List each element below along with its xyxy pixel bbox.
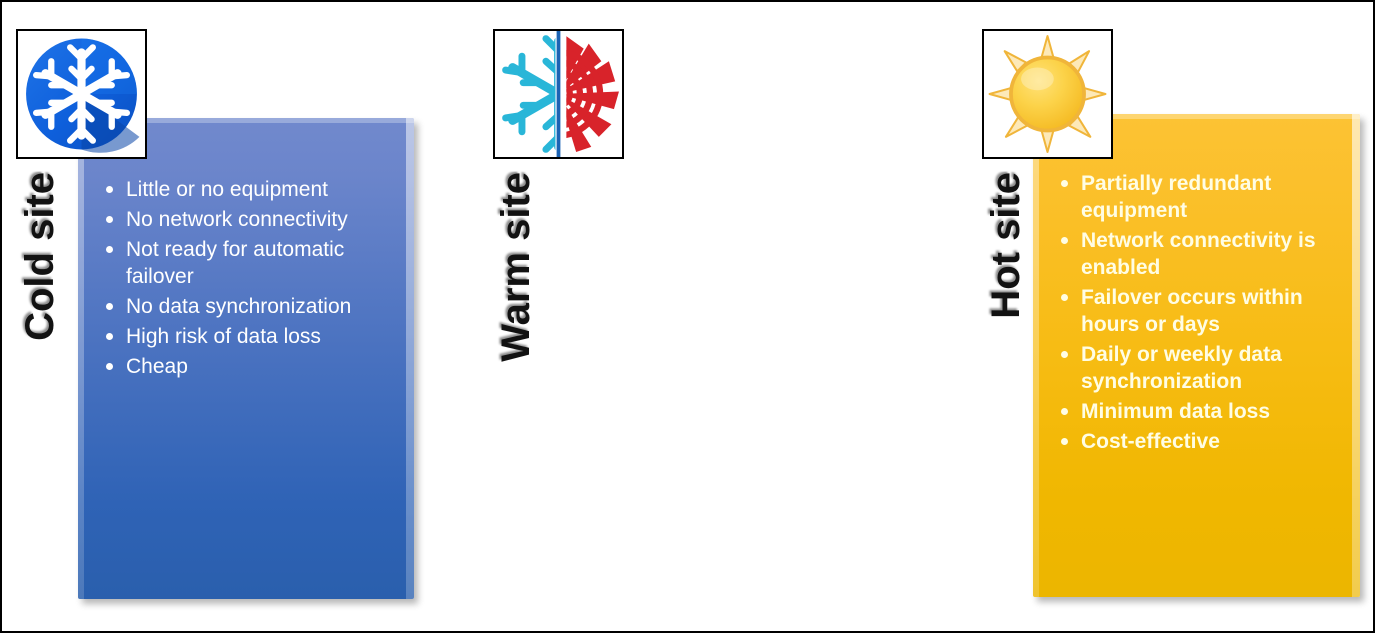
bullet-dot-icon: [106, 186, 113, 193]
list-item: Network connectivity is enabled: [1053, 227, 1346, 281]
list-item-label: Network connectivity is enabled: [1081, 229, 1316, 279]
bullet-dot-icon: [106, 333, 113, 340]
feature-list-cold: Little or no equipment No network connec…: [98, 176, 400, 383]
bullet-dot-icon: [1061, 294, 1068, 301]
bullet-dot-icon: [1061, 237, 1068, 244]
panel-bevel-right: [406, 118, 414, 599]
list-item-label: Minimum data loss: [1081, 400, 1270, 423]
list-item: Daily or weekly data synchronization: [1053, 341, 1346, 395]
bullet-dot-icon: [106, 216, 113, 223]
snowflake-icon: [18, 31, 145, 157]
site-label-cold: Cold site: [18, 172, 63, 341]
list-item: Not ready for automatic failover: [98, 236, 400, 290]
bullet-dot-icon: [1061, 438, 1068, 445]
list-item: Failover occurs within hours or days: [1053, 284, 1346, 338]
site-label-hot: Hot site: [984, 172, 1029, 319]
list-item-label: Partially redundant equipment: [1081, 172, 1271, 222]
list-item: Little or no equipment: [98, 176, 400, 203]
list-item-label: Daily or weekly data synchronization: [1081, 343, 1282, 393]
site-panel-cold: Little or no equipment No network connec…: [78, 118, 414, 599]
list-item-label: Cost-effective: [1081, 430, 1220, 453]
list-item-label: High risk of data loss: [126, 325, 321, 348]
site-column-cold: Cold site Little or no equipment No netw…: [2, 2, 472, 635]
snowflake-icon-tile: [16, 29, 147, 159]
snowflake-sun-split-icon: [495, 31, 622, 157]
list-item: No network connectivity: [98, 206, 400, 233]
list-item-label: Little or no equipment: [126, 178, 328, 201]
list-item: High risk of data loss: [98, 323, 400, 350]
list-item-label: Cheap: [126, 355, 188, 378]
site-label-warm: Warm site: [494, 172, 539, 362]
bullet-dot-icon: [1061, 351, 1068, 358]
bullet-dot-icon: [106, 363, 113, 370]
snowflake-sun-split-icon-tile: [493, 29, 624, 159]
bullet-dot-icon: [1061, 180, 1068, 187]
feature-list-warm: Partially redundant equipment Network co…: [1053, 170, 1346, 458]
list-item: Minimum data loss: [1053, 398, 1346, 425]
sun-icon-tile: [982, 29, 1113, 159]
sun-icon: [984, 31, 1111, 157]
site-column-warm: Warm site Partially redundant equipment …: [480, 2, 950, 635]
diagram-canvas: Cold site Little or no equipment No netw…: [0, 0, 1375, 633]
panel-bevel-right: [1352, 114, 1360, 597]
list-item-label: Failover occurs within hours or days: [1081, 286, 1303, 336]
list-item: No data synchronization: [98, 293, 400, 320]
list-item-label: Not ready for automatic failover: [126, 238, 344, 288]
panel-bevel-left: [78, 118, 84, 599]
list-item-label: No data synchronization: [126, 295, 351, 318]
bullet-dot-icon: [106, 246, 113, 253]
panel-bevel-left: [1033, 114, 1039, 597]
list-item: Partially redundant equipment: [1053, 170, 1346, 224]
list-item: Cost-effective: [1053, 428, 1346, 455]
bullet-dot-icon: [1061, 408, 1068, 415]
list-item-label: No network connectivity: [126, 208, 348, 231]
site-panel-warm: Partially redundant equipment Network co…: [1033, 114, 1360, 597]
list-item: Cheap: [98, 353, 400, 380]
bullet-dot-icon: [106, 303, 113, 310]
